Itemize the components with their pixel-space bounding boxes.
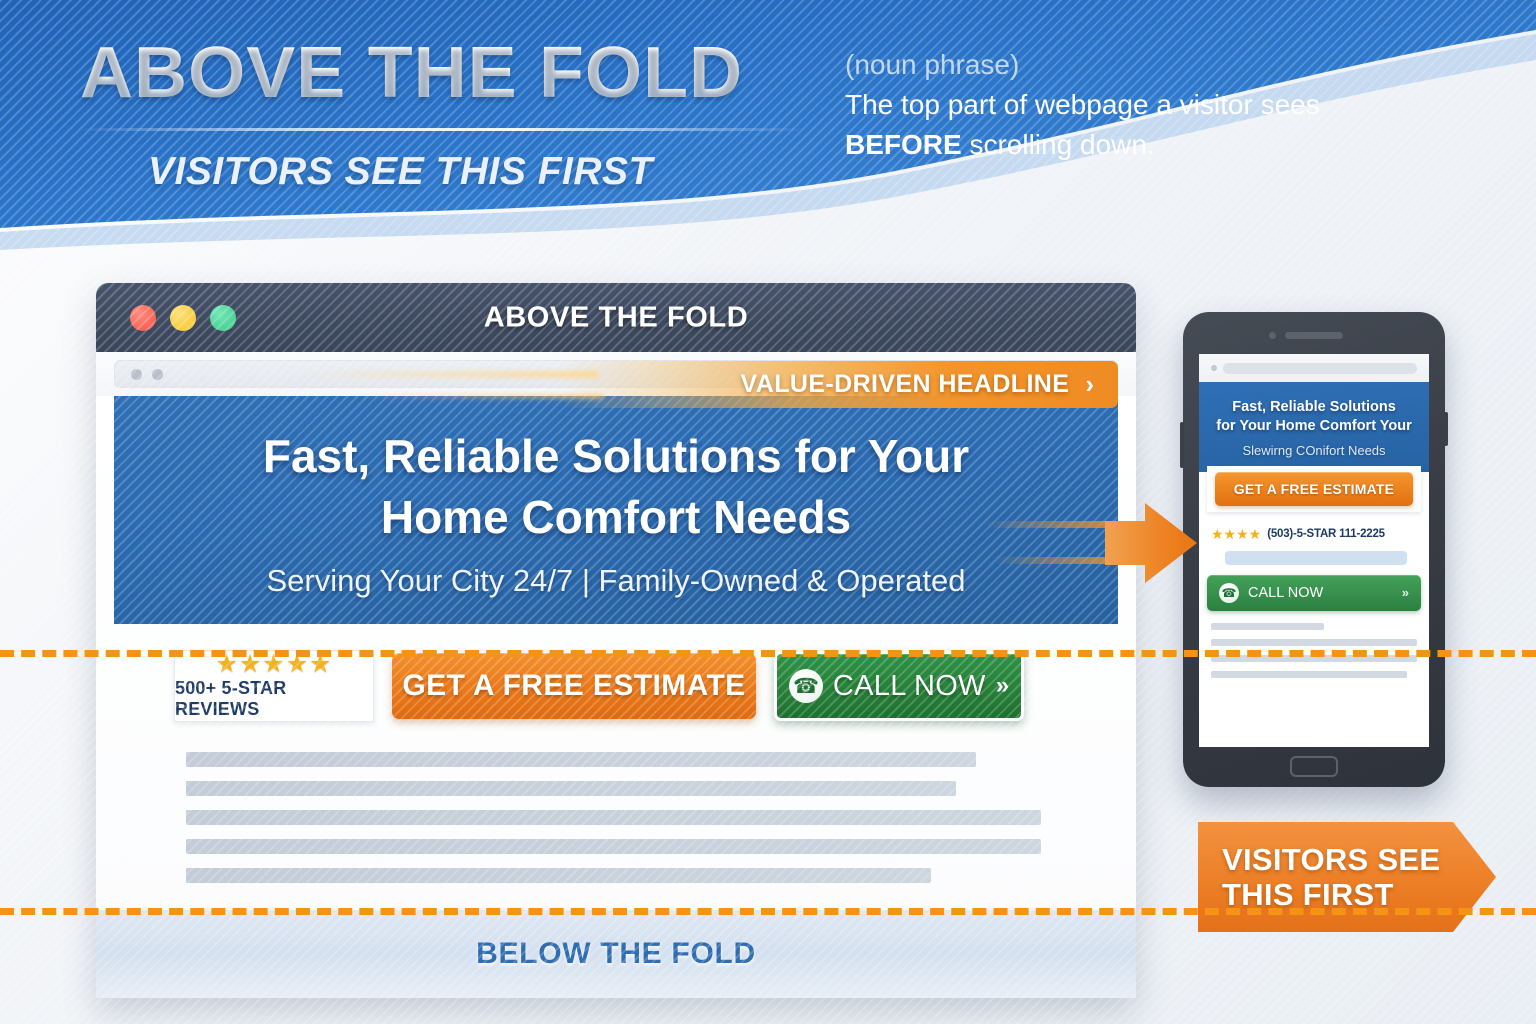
call-now-label: CALL NOW	[833, 670, 986, 703]
mobile-address-bar[interactable]	[1199, 354, 1429, 382]
browser-titlebar: ABOVE THE FOLD	[96, 283, 1136, 352]
definition-part-of-speech: (noun phrase)	[845, 45, 1485, 85]
mobile-headline-line-2: for Your Home Comfort Your	[1209, 417, 1419, 436]
below-the-fold-section: BELOW THE FOLD	[96, 910, 1136, 998]
double-chevron-icon: »	[996, 672, 1009, 700]
value-driven-headline-callout: VALUE-DRIVEN HEADLINE ›	[558, 361, 1118, 408]
mobile-placeholder-bar	[1211, 623, 1324, 630]
front-camera-icon	[1269, 332, 1276, 339]
hero-headline: Fast, Reliable Solutions for Your Home C…	[114, 426, 1118, 547]
mobile-placeholder-bar	[1211, 671, 1407, 678]
mobile-toolbar-dot-icon	[1211, 365, 1217, 371]
volume-button-icon[interactable]	[1180, 422, 1184, 468]
hero-headline-line-2: Home Comfort Needs	[184, 487, 1048, 548]
definition-block: (noun phrase) The top part of webpage a …	[845, 45, 1485, 166]
infographic-canvas: ABOVE THE FOLD VISITORS SEE THIS FIRST (…	[0, 0, 1536, 1024]
mobile-subheadline: Slewirng COnifort Needs	[1209, 443, 1419, 458]
home-button-icon[interactable]	[1290, 756, 1338, 777]
mobile-estimate-wrapper: GET A FREE ESTIMATE	[1207, 466, 1421, 512]
visitors-see-this-first-badge: VISITORS SEE THIS FIRST	[1198, 822, 1498, 932]
hero-section: VALUE-DRIVEN HEADLINE › Fast, Reliable S…	[114, 396, 1118, 624]
mobile-reviews-row: ★★★★ (503)-5-STAR 111-2225	[1199, 518, 1429, 549]
phone-icon: ☎	[789, 669, 823, 703]
mobile-call-now-label: CALL NOW	[1248, 585, 1393, 601]
mobile-phone-mockup: Fast, Reliable Solutions for Your Home C…	[1183, 312, 1445, 787]
mobile-star-rating-icon: ★★★★	[1211, 526, 1261, 543]
badge-line-2: THIS FIRST	[1222, 877, 1440, 912]
call-now-button[interactable]: ☎ CALL NOW »	[774, 651, 1024, 721]
page-subtitle: VISITORS SEE THIS FIRST	[148, 150, 653, 194]
flow-arrow-icon	[985, 495, 1200, 595]
placeholder-bar	[186, 781, 956, 796]
title-divider	[78, 128, 808, 131]
mobile-headline: Fast, Reliable Solutions for Your Home C…	[1209, 398, 1419, 437]
header-band: ABOVE THE FOLD VISITORS SEE THIS FIRST (…	[0, 0, 1536, 270]
reviews-count-label: 500+ 5-STAR REVIEWS	[175, 678, 373, 720]
definition-line-2: BEFORE scrolling down.	[845, 125, 1485, 166]
placeholder-bar	[186, 839, 1041, 854]
mobile-placeholder-bar	[1211, 639, 1417, 646]
browser-window-title: ABOVE THE FOLD	[96, 301, 1136, 334]
mobile-hero-section: Fast, Reliable Solutions for Your Home C…	[1199, 382, 1429, 472]
toolbar-dot-icon	[131, 369, 142, 380]
toolbar-dot-icon	[152, 369, 163, 380]
placeholder-bar	[186, 868, 931, 883]
mobile-get-free-estimate-button[interactable]: GET A FREE ESTIMATE	[1215, 472, 1413, 506]
hero-text: Fast, Reliable Solutions for Your Home C…	[114, 396, 1118, 599]
fold-line-primary	[0, 650, 1536, 657]
callout-streak-lower	[353, 394, 603, 399]
mobile-phone-number[interactable]: (503)-5-STAR 111-2225	[1267, 528, 1385, 540]
cta-row: ★★★★★ 500+ 5-STAR REVIEWS GET A FREE EST…	[96, 624, 1136, 722]
hero-subheadline: Serving Your City 24/7 | Family-Owned & …	[114, 563, 1118, 599]
reviews-badge: ★★★★★ 500+ 5-STAR REVIEWS	[174, 650, 374, 722]
chevron-right-icon: ›	[1085, 369, 1094, 400]
mobile-phone-icon: ☎	[1219, 583, 1239, 603]
mobile-call-now-button[interactable]: ☎ CALL NOW »	[1207, 575, 1421, 611]
definition-before-emphasis: BEFORE	[845, 129, 962, 160]
mobile-double-chevron-icon: »	[1402, 585, 1409, 600]
placeholder-bar	[186, 810, 1041, 825]
definition-line-2-rest: scrolling down.	[962, 129, 1155, 160]
callout-streak-upper	[298, 371, 598, 378]
content-placeholder-block	[96, 722, 1136, 883]
badge-line-1: VISITORS SEE	[1222, 842, 1440, 877]
callout-label: VALUE-DRIVEN HEADLINE	[741, 370, 1070, 399]
mobile-headline-line-1: Fast, Reliable Solutions	[1209, 398, 1419, 417]
hero-headline-line-1: Fast, Reliable Solutions for Your	[184, 426, 1048, 487]
get-free-estimate-button[interactable]: GET A FREE ESTIMATE	[392, 653, 756, 719]
badge-text: VISITORS SEE THIS FIRST	[1222, 842, 1440, 912]
header-text-block: ABOVE THE FOLD VISITORS SEE THIS FIRST (…	[0, 0, 1536, 230]
definition-line-1: The top part of webpage a visitor sees	[845, 85, 1485, 126]
mobile-highlight-bar	[1225, 551, 1407, 565]
placeholder-bar	[186, 752, 976, 767]
mobile-content-placeholder-block	[1199, 611, 1429, 678]
earpiece-speaker-icon	[1285, 332, 1343, 339]
power-button-icon[interactable]	[1444, 412, 1448, 446]
browser-window-mockup: ABOVE THE FOLD VALUE-DRIVEN HEADLINE › F…	[96, 283, 1136, 998]
mobile-screen: Fast, Reliable Solutions for Your Home C…	[1199, 354, 1429, 747]
below-the-fold-label: BELOW THE FOLD	[476, 937, 756, 971]
fold-line-secondary	[0, 908, 1536, 915]
mobile-url-field[interactable]	[1223, 363, 1417, 374]
page-title: ABOVE THE FOLD	[80, 32, 743, 114]
